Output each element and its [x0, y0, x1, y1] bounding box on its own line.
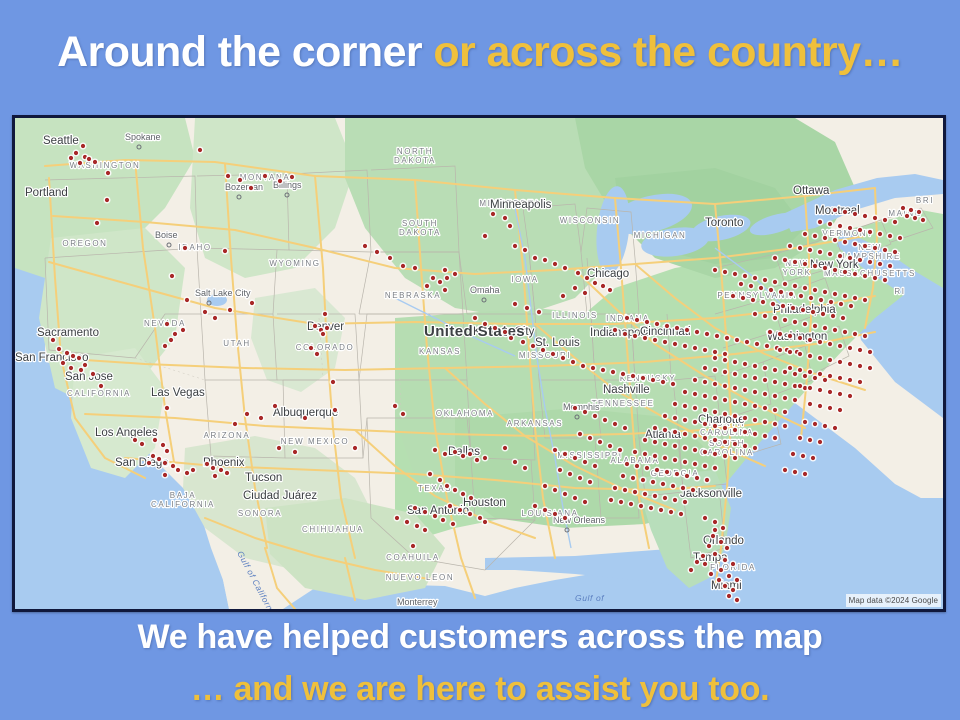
customer-marker[interactable] — [852, 271, 859, 278]
customer-marker[interactable] — [432, 513, 439, 520]
customer-marker[interactable] — [712, 267, 719, 274]
customer-marker[interactable] — [94, 220, 101, 227]
customer-marker[interactable] — [837, 407, 844, 414]
customer-marker[interactable] — [652, 337, 659, 344]
customer-marker[interactable] — [437, 477, 444, 484]
customer-marker[interactable] — [77, 160, 84, 167]
customer-marker[interactable] — [542, 257, 549, 264]
customer-marker[interactable] — [722, 439, 729, 446]
customer-marker[interactable] — [872, 245, 879, 252]
customer-marker[interactable] — [694, 559, 701, 566]
customer-marker[interactable] — [752, 311, 759, 318]
customer-marker[interactable] — [587, 435, 594, 442]
customer-marker[interactable] — [900, 205, 907, 212]
customer-marker[interactable] — [289, 174, 296, 181]
customer-marker[interactable] — [692, 447, 699, 454]
customer-marker[interactable] — [762, 313, 769, 320]
customer-marker[interactable] — [722, 369, 729, 376]
customer-marker[interactable] — [762, 405, 769, 412]
customer-marker[interactable] — [374, 249, 381, 256]
customer-marker[interactable] — [540, 347, 547, 354]
customer-marker[interactable] — [714, 333, 721, 340]
customer-marker[interactable] — [164, 448, 171, 455]
customer-marker[interactable] — [787, 365, 794, 372]
customer-marker[interactable] — [536, 309, 543, 316]
customer-marker[interactable] — [817, 439, 824, 446]
customer-marker[interactable] — [772, 255, 779, 262]
customer-marker[interactable] — [73, 150, 80, 157]
customer-marker[interactable] — [872, 215, 879, 222]
customer-marker[interactable] — [712, 465, 719, 472]
customer-marker[interactable] — [452, 487, 459, 494]
customer-marker[interactable] — [830, 313, 837, 320]
customer-marker[interactable] — [640, 375, 647, 382]
customer-marker[interactable] — [302, 415, 309, 422]
customer-marker[interactable] — [877, 231, 884, 238]
customer-marker[interactable] — [797, 245, 804, 252]
customer-marker[interactable] — [662, 339, 669, 346]
customer-marker[interactable] — [837, 223, 844, 230]
customer-marker[interactable] — [590, 365, 597, 372]
customer-marker[interactable] — [744, 339, 751, 346]
customer-marker[interactable] — [807, 353, 814, 360]
customer-marker[interactable] — [422, 527, 429, 534]
customer-marker[interactable] — [532, 503, 539, 510]
customer-marker[interactable] — [502, 445, 509, 452]
customer-marker[interactable] — [452, 449, 459, 456]
customer-marker[interactable] — [732, 371, 739, 378]
customer-marker[interactable] — [682, 343, 689, 350]
customer-marker[interactable] — [790, 305, 797, 312]
customer-marker[interactable] — [78, 367, 85, 374]
customer-marker[interactable] — [682, 403, 689, 410]
customer-marker[interactable] — [752, 403, 759, 410]
customer-marker[interactable] — [837, 375, 844, 382]
customer-marker[interactable] — [292, 449, 299, 456]
customer-marker[interactable] — [664, 469, 671, 476]
customer-marker[interactable] — [742, 273, 749, 280]
customer-marker[interactable] — [782, 281, 789, 288]
customer-marker[interactable] — [852, 295, 859, 302]
customer-marker[interactable] — [197, 147, 204, 154]
customer-marker[interactable] — [80, 143, 87, 150]
customer-marker[interactable] — [800, 453, 807, 460]
customer-marker[interactable] — [672, 401, 679, 408]
customer-marker[interactable] — [610, 369, 617, 376]
customer-marker[interactable] — [442, 267, 449, 274]
customer-marker[interactable] — [592, 463, 599, 470]
customer-marker[interactable] — [892, 219, 899, 226]
customer-marker[interactable] — [90, 371, 97, 378]
customer-marker[interactable] — [827, 373, 834, 380]
customer-marker[interactable] — [852, 331, 859, 338]
customer-marker[interactable] — [867, 349, 874, 356]
customer-marker[interactable] — [817, 249, 824, 256]
customer-marker[interactable] — [772, 421, 779, 428]
customer-marker[interactable] — [768, 287, 775, 294]
customer-marker[interactable] — [682, 499, 689, 506]
customer-marker[interactable] — [762, 377, 769, 384]
customer-marker[interactable] — [797, 435, 804, 442]
customer-marker[interactable] — [224, 470, 231, 477]
customer-marker[interactable] — [712, 367, 719, 374]
customer-marker[interactable] — [550, 351, 557, 358]
customer-marker[interactable] — [164, 405, 171, 412]
customer-marker[interactable] — [650, 479, 657, 486]
customer-marker[interactable] — [867, 259, 874, 266]
customer-marker[interactable] — [857, 363, 864, 370]
customer-marker[interactable] — [752, 389, 759, 396]
customer-marker[interactable] — [482, 321, 489, 328]
customer-marker[interactable] — [664, 323, 671, 330]
customer-marker[interactable] — [467, 511, 474, 518]
customer-marker[interactable] — [482, 233, 489, 240]
customer-marker[interactable] — [225, 173, 232, 180]
customer-marker[interactable] — [400, 263, 407, 270]
customer-marker[interactable] — [742, 361, 749, 368]
customer-marker[interactable] — [680, 485, 687, 492]
customer-marker[interactable] — [248, 185, 255, 192]
customer-marker[interactable] — [702, 407, 709, 414]
customer-marker[interactable] — [472, 315, 479, 322]
customer-marker[interactable] — [492, 325, 499, 332]
customer-marker[interactable] — [522, 465, 529, 472]
customer-marker[interactable] — [792, 259, 799, 266]
customer-marker[interactable] — [840, 315, 847, 322]
customer-marker[interactable] — [862, 297, 869, 304]
customer-marker[interactable] — [632, 449, 639, 456]
customer-marker[interactable] — [572, 455, 579, 462]
customer-marker[interactable] — [802, 285, 809, 292]
customer-marker[interactable] — [662, 455, 669, 462]
customer-marker[interactable] — [672, 341, 679, 348]
customer-marker[interactable] — [682, 431, 689, 438]
customer-marker[interactable] — [712, 527, 719, 534]
customer-marker[interactable] — [422, 509, 429, 516]
us-customer-map[interactable]: WASHINGTONOREGONIDAHOMONTANANORTHDAKOTAS… — [15, 118, 943, 609]
customer-marker[interactable] — [332, 407, 339, 414]
customer-marker[interactable] — [430, 275, 437, 282]
customer-marker[interactable] — [552, 261, 559, 268]
customer-marker[interactable] — [847, 255, 854, 262]
customer-marker[interactable] — [432, 447, 439, 454]
customer-marker[interactable] — [827, 389, 834, 396]
customer-marker[interactable] — [427, 471, 434, 478]
customer-marker[interactable] — [684, 473, 691, 480]
customer-marker[interactable] — [822, 325, 829, 332]
customer-marker[interactable] — [692, 345, 699, 352]
customer-marker[interactable] — [447, 503, 454, 510]
customer-marker[interactable] — [650, 377, 657, 384]
customer-marker[interactable] — [807, 401, 814, 408]
customer-marker[interactable] — [828, 299, 835, 306]
customer-marker[interactable] — [648, 505, 655, 512]
customer-marker[interactable] — [607, 443, 614, 450]
customer-marker[interactable] — [752, 417, 759, 424]
customer-marker[interactable] — [704, 331, 711, 338]
customer-marker[interactable] — [842, 293, 849, 300]
customer-marker[interactable] — [818, 297, 825, 304]
customer-marker[interactable] — [277, 178, 284, 185]
customer-marker[interactable] — [762, 433, 769, 440]
customer-marker[interactable] — [227, 307, 234, 314]
customer-marker[interactable] — [532, 255, 539, 262]
customer-marker[interactable] — [832, 207, 839, 214]
customer-marker[interactable] — [632, 489, 639, 496]
customer-marker[interactable] — [782, 257, 789, 264]
customer-marker[interactable] — [502, 215, 509, 222]
customer-marker[interactable] — [822, 235, 829, 242]
customer-marker[interactable] — [812, 233, 819, 240]
customer-marker[interactable] — [722, 357, 729, 364]
customer-marker[interactable] — [720, 525, 727, 532]
customer-marker[interactable] — [722, 453, 729, 460]
customer-marker[interactable] — [172, 331, 179, 338]
customer-marker[interactable] — [146, 460, 153, 467]
customer-marker[interactable] — [490, 211, 497, 218]
customer-marker[interactable] — [634, 463, 641, 470]
customer-marker[interactable] — [652, 425, 659, 432]
customer-marker[interactable] — [512, 459, 519, 466]
customer-marker[interactable] — [249, 300, 256, 307]
customer-marker[interactable] — [718, 567, 725, 574]
customer-marker[interactable] — [742, 415, 749, 422]
customer-marker[interactable] — [670, 381, 677, 388]
customer-marker[interactable] — [802, 261, 809, 268]
customer-marker[interactable] — [400, 411, 407, 418]
customer-marker[interactable] — [734, 577, 741, 584]
customer-marker[interactable] — [730, 293, 737, 300]
customer-marker[interactable] — [68, 365, 75, 372]
customer-marker[interactable] — [702, 463, 709, 470]
customer-marker[interactable] — [832, 267, 839, 274]
customer-marker[interactable] — [808, 295, 815, 302]
customer-marker[interactable] — [560, 293, 567, 300]
customer-marker[interactable] — [457, 507, 464, 514]
customer-marker[interactable] — [702, 515, 709, 522]
customer-marker[interactable] — [847, 393, 854, 400]
customer-marker[interactable] — [624, 315, 631, 322]
customer-marker[interactable] — [820, 311, 827, 318]
customer-marker[interactable] — [842, 329, 849, 336]
customer-marker[interactable] — [86, 156, 93, 163]
customer-marker[interactable] — [572, 495, 579, 502]
customer-marker[interactable] — [362, 243, 369, 250]
customer-marker[interactable] — [837, 343, 844, 350]
customer-marker[interactable] — [638, 503, 645, 510]
customer-marker[interactable] — [105, 170, 112, 177]
customer-marker[interactable] — [692, 377, 699, 384]
customer-marker[interactable] — [882, 277, 889, 284]
customer-marker[interactable] — [612, 421, 619, 428]
customer-marker[interactable] — [622, 487, 629, 494]
customer-marker[interactable] — [877, 261, 884, 268]
customer-marker[interactable] — [712, 395, 719, 402]
customer-marker[interactable] — [762, 419, 769, 426]
customer-marker[interactable] — [412, 505, 419, 512]
customer-marker[interactable] — [772, 279, 779, 286]
customer-marker[interactable] — [60, 360, 67, 367]
customer-marker[interactable] — [150, 453, 157, 460]
customer-marker[interactable] — [450, 521, 457, 528]
customer-marker[interactable] — [897, 235, 904, 242]
customer-marker[interactable] — [642, 335, 649, 342]
customer-marker[interactable] — [672, 443, 679, 450]
customer-marker[interactable] — [904, 213, 911, 220]
customer-marker[interactable] — [832, 291, 839, 298]
customer-marker[interactable] — [750, 297, 757, 304]
customer-marker[interactable] — [442, 287, 449, 294]
customer-marker[interactable] — [730, 587, 737, 594]
customer-marker[interactable] — [772, 379, 779, 386]
customer-marker[interactable] — [722, 351, 729, 358]
customer-marker[interactable] — [817, 339, 824, 346]
customer-marker[interactable] — [722, 397, 729, 404]
customer-marker[interactable] — [817, 355, 824, 362]
customer-marker[interactable] — [672, 457, 679, 464]
customer-marker[interactable] — [674, 325, 681, 332]
customer-marker[interactable] — [560, 355, 567, 362]
customer-marker[interactable] — [444, 275, 451, 282]
customer-marker[interactable] — [662, 441, 669, 448]
customer-marker[interactable] — [792, 469, 799, 476]
customer-marker[interactable] — [832, 327, 839, 334]
customer-marker[interactable] — [652, 439, 659, 446]
customer-marker[interactable] — [634, 317, 641, 324]
customer-marker[interactable] — [782, 467, 789, 474]
customer-marker[interactable] — [857, 257, 864, 264]
customer-marker[interactable] — [210, 465, 217, 472]
customer-marker[interactable] — [162, 343, 169, 350]
customer-marker[interactable] — [882, 217, 889, 224]
customer-marker[interactable] — [552, 511, 559, 518]
customer-marker[interactable] — [807, 385, 814, 392]
customer-marker[interactable] — [777, 347, 784, 354]
customer-marker[interactable] — [712, 381, 719, 388]
customer-marker[interactable] — [702, 347, 709, 354]
customer-marker[interactable] — [827, 251, 834, 258]
customer-marker[interactable] — [700, 553, 707, 560]
customer-marker[interactable] — [752, 431, 759, 438]
customer-marker[interactable] — [162, 460, 169, 467]
customer-marker[interactable] — [807, 337, 814, 344]
customer-marker[interactable] — [424, 283, 431, 290]
customer-marker[interactable] — [682, 459, 689, 466]
customer-marker[interactable] — [822, 423, 829, 430]
customer-marker[interactable] — [232, 421, 239, 428]
customer-marker[interactable] — [752, 275, 759, 282]
customer-marker[interactable] — [572, 285, 579, 292]
customer-marker[interactable] — [70, 353, 77, 360]
customer-marker[interactable] — [642, 491, 649, 498]
customer-marker[interactable] — [762, 277, 769, 284]
customer-marker[interactable] — [692, 433, 699, 440]
customer-marker[interactable] — [212, 473, 219, 480]
customer-marker[interactable] — [530, 343, 537, 350]
customer-marker[interactable] — [314, 351, 321, 358]
customer-marker[interactable] — [692, 391, 699, 398]
customer-marker[interactable] — [414, 523, 421, 530]
customer-marker[interactable] — [218, 467, 225, 474]
customer-marker[interactable] — [722, 269, 729, 276]
customer-marker[interactable] — [706, 543, 713, 550]
customer-marker[interactable] — [104, 197, 111, 204]
customer-marker[interactable] — [507, 223, 514, 230]
customer-marker[interactable] — [712, 423, 719, 430]
customer-marker[interactable] — [704, 477, 711, 484]
customer-marker[interactable] — [600, 283, 607, 290]
customer-marker[interactable] — [702, 421, 709, 428]
customer-marker[interactable] — [792, 397, 799, 404]
customer-marker[interactable] — [798, 293, 805, 300]
customer-marker[interactable] — [542, 483, 549, 490]
customer-marker[interactable] — [732, 455, 739, 462]
customer-marker[interactable] — [98, 383, 105, 390]
customer-marker[interactable] — [862, 243, 869, 250]
customer-marker[interactable] — [702, 435, 709, 442]
customer-marker[interactable] — [582, 499, 589, 506]
customer-marker[interactable] — [244, 411, 251, 418]
customer-marker[interactable] — [722, 425, 729, 432]
customer-marker[interactable] — [827, 405, 834, 412]
customer-marker[interactable] — [182, 245, 189, 252]
customer-marker[interactable] — [754, 341, 761, 348]
customer-marker[interactable] — [440, 517, 447, 524]
customer-marker[interactable] — [612, 485, 619, 492]
customer-marker[interactable] — [742, 401, 749, 408]
customer-marker[interactable] — [512, 301, 519, 308]
customer-marker[interactable] — [817, 219, 824, 226]
customer-marker[interactable] — [742, 429, 749, 436]
customer-marker[interactable] — [732, 413, 739, 420]
customer-marker[interactable] — [787, 349, 794, 356]
customer-marker[interactable] — [852, 241, 859, 248]
customer-marker[interactable] — [684, 327, 691, 334]
customer-marker[interactable] — [712, 349, 719, 356]
customer-marker[interactable] — [702, 561, 709, 568]
customer-marker[interactable] — [734, 337, 741, 344]
customer-marker[interactable] — [682, 389, 689, 396]
customer-marker[interactable] — [722, 583, 729, 590]
customer-marker[interactable] — [916, 209, 923, 216]
customer-marker[interactable] — [630, 373, 637, 380]
customer-marker[interactable] — [692, 419, 699, 426]
customer-marker[interactable] — [822, 265, 829, 272]
customer-marker[interactable] — [732, 271, 739, 278]
customer-marker[interactable] — [632, 333, 639, 340]
customer-marker[interactable] — [322, 311, 329, 318]
customer-marker[interactable] — [190, 467, 197, 474]
customer-marker[interactable] — [668, 509, 675, 516]
customer-marker[interactable] — [674, 471, 681, 478]
customer-marker[interactable] — [867, 365, 874, 372]
customer-marker[interactable] — [787, 333, 794, 340]
customer-marker[interactable] — [694, 475, 701, 482]
customer-marker[interactable] — [562, 451, 569, 458]
customer-marker[interactable] — [742, 387, 749, 394]
customer-marker[interactable] — [712, 355, 719, 362]
customer-marker[interactable] — [782, 409, 789, 416]
customer-marker[interactable] — [812, 421, 819, 428]
customer-marker[interactable] — [628, 501, 635, 508]
customer-marker[interactable] — [652, 453, 659, 460]
customer-marker[interactable] — [772, 367, 779, 374]
customer-marker[interactable] — [812, 263, 819, 270]
customer-marker[interactable] — [662, 413, 669, 420]
customer-marker[interactable] — [862, 213, 869, 220]
customer-marker[interactable] — [842, 209, 849, 216]
customer-marker[interactable] — [184, 297, 191, 304]
